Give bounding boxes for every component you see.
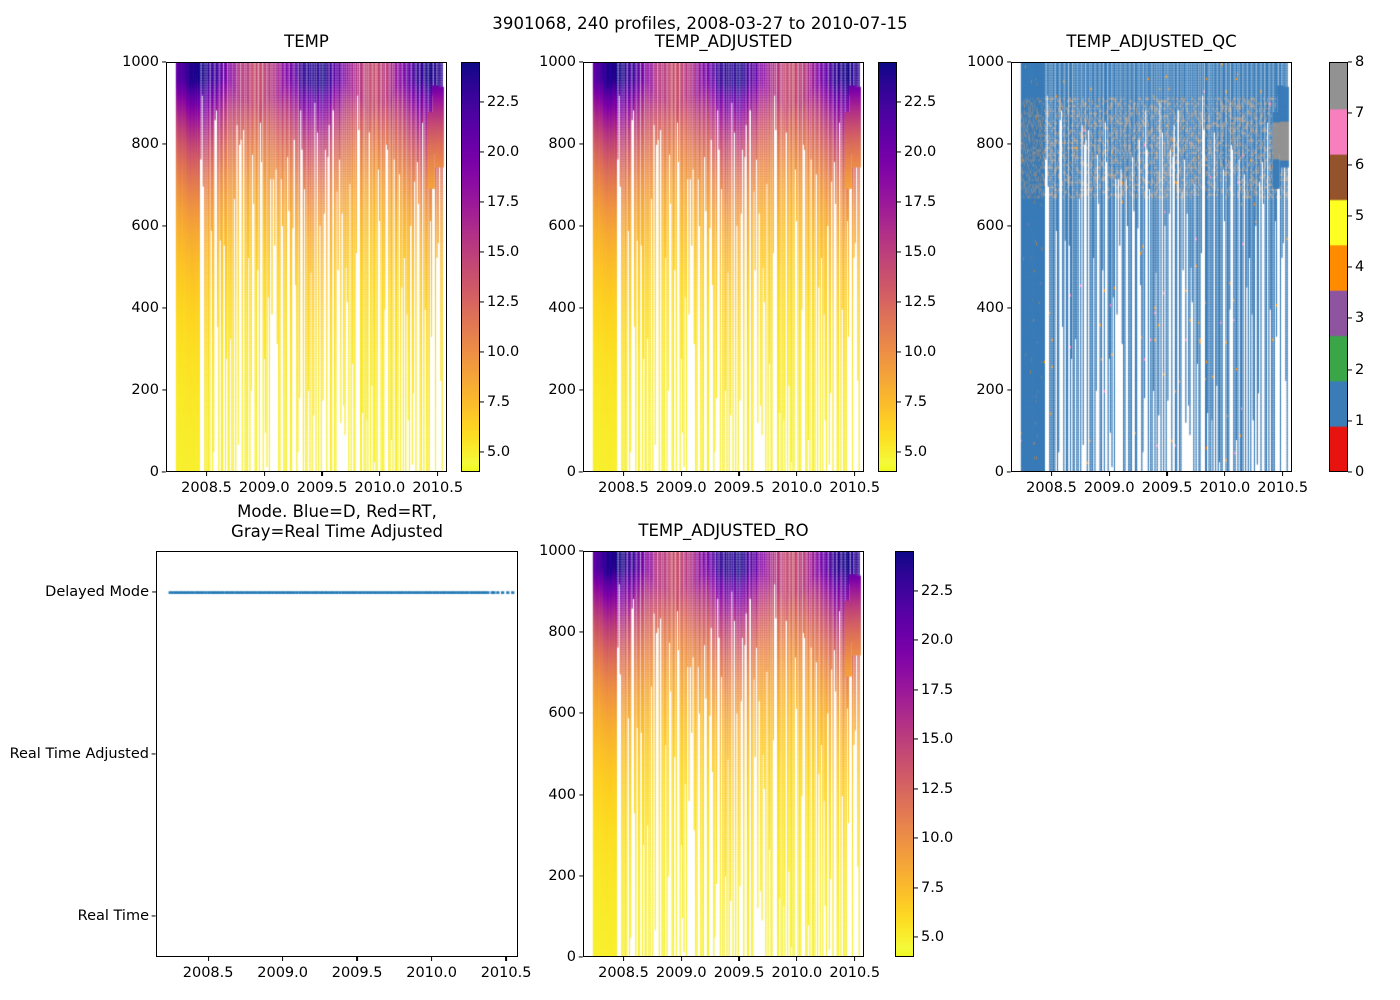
x-tick-label: 2010.5: [829, 957, 880, 981]
colorbar-tick-label: 20.0: [914, 632, 953, 648]
x-tick-label: 2009.0: [656, 472, 707, 496]
mode-y-tick-label: Delayed Mode: [45, 584, 156, 600]
panel-temp-title: TEMP: [166, 32, 447, 52]
y-tick-label: 800: [976, 136, 1011, 152]
colorbar-tick-label: 20.0: [480, 144, 519, 160]
y-tick-label: 200: [548, 868, 583, 884]
colorbar-tick-label: 3: [1348, 310, 1364, 326]
mode-x-tick-label: 2010.5: [481, 957, 532, 981]
colorbar-gradient: [1330, 63, 1347, 471]
colorbar-tick-label: 7.5: [897, 394, 927, 410]
x-tick-label: 2009.5: [297, 472, 348, 496]
mode-scatter-canvas: [157, 552, 518, 957]
panel-temp-adjusted-ro: TEMP_ADJUSTED_RO 020040060080010002008.5…: [583, 551, 864, 957]
colorbar-tick-label: 5.0: [480, 444, 510, 460]
x-tick-label: 2010.0: [772, 472, 823, 496]
section-heatmap-canvas: [1012, 63, 1292, 472]
x-tick-label: 2009.0: [1084, 472, 1135, 496]
y-tick-label: 400: [131, 300, 166, 316]
colorbar-gradient: [879, 63, 896, 471]
x-tick-label: 2010.5: [829, 472, 880, 496]
y-tick-label: 0: [567, 949, 583, 965]
panel-temp-adjusted-qc-axes[interactable]: [1011, 62, 1292, 472]
panel-temp-axes[interactable]: [166, 62, 447, 472]
y-tick-label: 600: [548, 705, 583, 721]
x-tick-label: 2009.5: [1142, 472, 1193, 496]
colorbar-tick-label: 12.5: [897, 294, 936, 310]
x-tick-label: 2010.0: [355, 472, 406, 496]
y-tick-label: 0: [567, 464, 583, 480]
colorbar-tick-label: 1: [1348, 413, 1364, 429]
y-tick-label: 400: [976, 300, 1011, 316]
y-tick-label: 0: [995, 464, 1011, 480]
colorbar-tick-label: 5: [1348, 208, 1364, 224]
panel-temp-adjusted-axes[interactable]: [583, 62, 864, 472]
colorbar-tick-label: 15.0: [897, 244, 936, 260]
x-tick-label: 2008.5: [181, 472, 232, 496]
section-heatmap-canvas: [584, 63, 864, 472]
mode-y-tick-label: Real Time Adjusted: [10, 746, 156, 762]
colorbar-temp-adjusted: [878, 62, 897, 472]
colorbar-temp-adjusted-ro: [895, 551, 914, 957]
x-tick-label: 2009.5: [714, 957, 765, 981]
colorbar-tick-label: 17.5: [480, 194, 519, 210]
y-tick-label: 200: [548, 382, 583, 398]
x-tick-label: 2008.5: [1026, 472, 1077, 496]
y-tick-label: 0: [150, 464, 166, 480]
y-tick-label: 400: [548, 787, 583, 803]
mode-x-tick-label: 2010.0: [406, 957, 457, 981]
panel-temp-adjusted-ro-axes[interactable]: [583, 551, 864, 957]
mode-x-tick-label: 2008.5: [183, 957, 234, 981]
colorbar-temp: [461, 62, 480, 472]
colorbar-tick-label: 5.0: [897, 444, 927, 460]
y-tick-label: 1000: [539, 54, 583, 70]
y-tick-label: 1000: [967, 54, 1011, 70]
colorbar-tick-label: 22.5: [897, 94, 936, 110]
x-tick-label: 2008.5: [598, 957, 649, 981]
section-heatmap-canvas: [584, 552, 864, 957]
x-tick-label: 2010.0: [1200, 472, 1251, 496]
colorbar-tick-label: 22.5: [914, 583, 953, 599]
colorbar-tick-label: 7.5: [480, 394, 510, 410]
colorbar-tick-label: 12.5: [480, 294, 519, 310]
mode-x-tick-label: 2009.5: [332, 957, 383, 981]
colorbar-tick-label: 15.0: [480, 244, 519, 260]
y-tick-label: 800: [548, 136, 583, 152]
panel-mode-axes[interactable]: [156, 551, 518, 957]
figure-title: 3901068, 240 profiles, 2008-03-27 to 201…: [0, 14, 1400, 33]
panel-temp-adjusted-qc: TEMP_ADJUSTED_QC 020040060080010002008.5…: [1011, 62, 1292, 472]
panel-mode: Mode. Blue=D, Red=RT, Gray=Real Time Adj…: [156, 551, 518, 957]
x-tick-label: 2010.5: [1257, 472, 1308, 496]
y-tick-label: 200: [976, 382, 1011, 398]
y-tick-label: 800: [131, 136, 166, 152]
y-tick-label: 600: [548, 218, 583, 234]
argo-temperature-figure: 3901068, 240 profiles, 2008-03-27 to 201…: [0, 0, 1400, 1000]
colorbar-tick-label: 7: [1348, 105, 1364, 121]
panel-temp-adjusted-ro-title: TEMP_ADJUSTED_RO: [583, 521, 864, 541]
panel-temp-adjusted: TEMP_ADJUSTED 020040060080010002008.5200…: [583, 62, 864, 472]
colorbar-tick-label: 2: [1348, 362, 1364, 378]
colorbar-tick-label: 17.5: [914, 682, 953, 698]
x-tick-label: 2009.0: [239, 472, 290, 496]
colorbar-tick-label: 6: [1348, 157, 1364, 173]
x-tick-label: 2010.0: [772, 957, 823, 981]
panel-temp-adjusted-qc-title: TEMP_ADJUSTED_QC: [1011, 32, 1292, 52]
colorbar-tick-label: 10.0: [897, 344, 936, 360]
colorbar-tick-label: 17.5: [897, 194, 936, 210]
panel-temp: TEMP 020040060080010002008.52009.02009.5…: [166, 62, 447, 472]
colorbar-tick-label: 7.5: [914, 880, 944, 896]
x-tick-label: 2008.5: [598, 472, 649, 496]
colorbar-tick-label: 10.0: [914, 830, 953, 846]
colorbar-gradient: [896, 552, 913, 956]
colorbar-tick-label: 10.0: [480, 344, 519, 360]
colorbar-gradient: [462, 63, 479, 471]
panel-mode-title: Mode. Blue=D, Red=RT, Gray=Real Time Adj…: [156, 502, 518, 542]
y-tick-label: 1000: [122, 54, 166, 70]
x-tick-label: 2010.5: [412, 472, 463, 496]
y-tick-label: 200: [131, 382, 166, 398]
section-heatmap-canvas: [167, 63, 447, 472]
colorbar-tick-label: 12.5: [914, 781, 953, 797]
colorbar-tick-label: 22.5: [480, 94, 519, 110]
colorbar-qc: [1329, 62, 1348, 472]
y-tick-label: 400: [548, 300, 583, 316]
x-tick-label: 2009.0: [656, 957, 707, 981]
mode-x-tick-label: 2009.0: [257, 957, 308, 981]
y-tick-label: 600: [131, 218, 166, 234]
colorbar-tick-label: 20.0: [897, 144, 936, 160]
y-tick-label: 1000: [539, 543, 583, 559]
colorbar-tick-label: 4: [1348, 259, 1364, 275]
y-tick-label: 600: [976, 218, 1011, 234]
y-tick-label: 800: [548, 624, 583, 640]
mode-y-tick-label: Real Time: [78, 908, 156, 924]
x-tick-label: 2009.5: [714, 472, 765, 496]
colorbar-tick-label: 0: [1348, 464, 1364, 480]
colorbar-tick-label: 5.0: [914, 929, 944, 945]
colorbar-tick-label: 8: [1348, 54, 1364, 70]
colorbar-tick-label: 15.0: [914, 731, 953, 747]
panel-temp-adjusted-title: TEMP_ADJUSTED: [583, 32, 864, 52]
